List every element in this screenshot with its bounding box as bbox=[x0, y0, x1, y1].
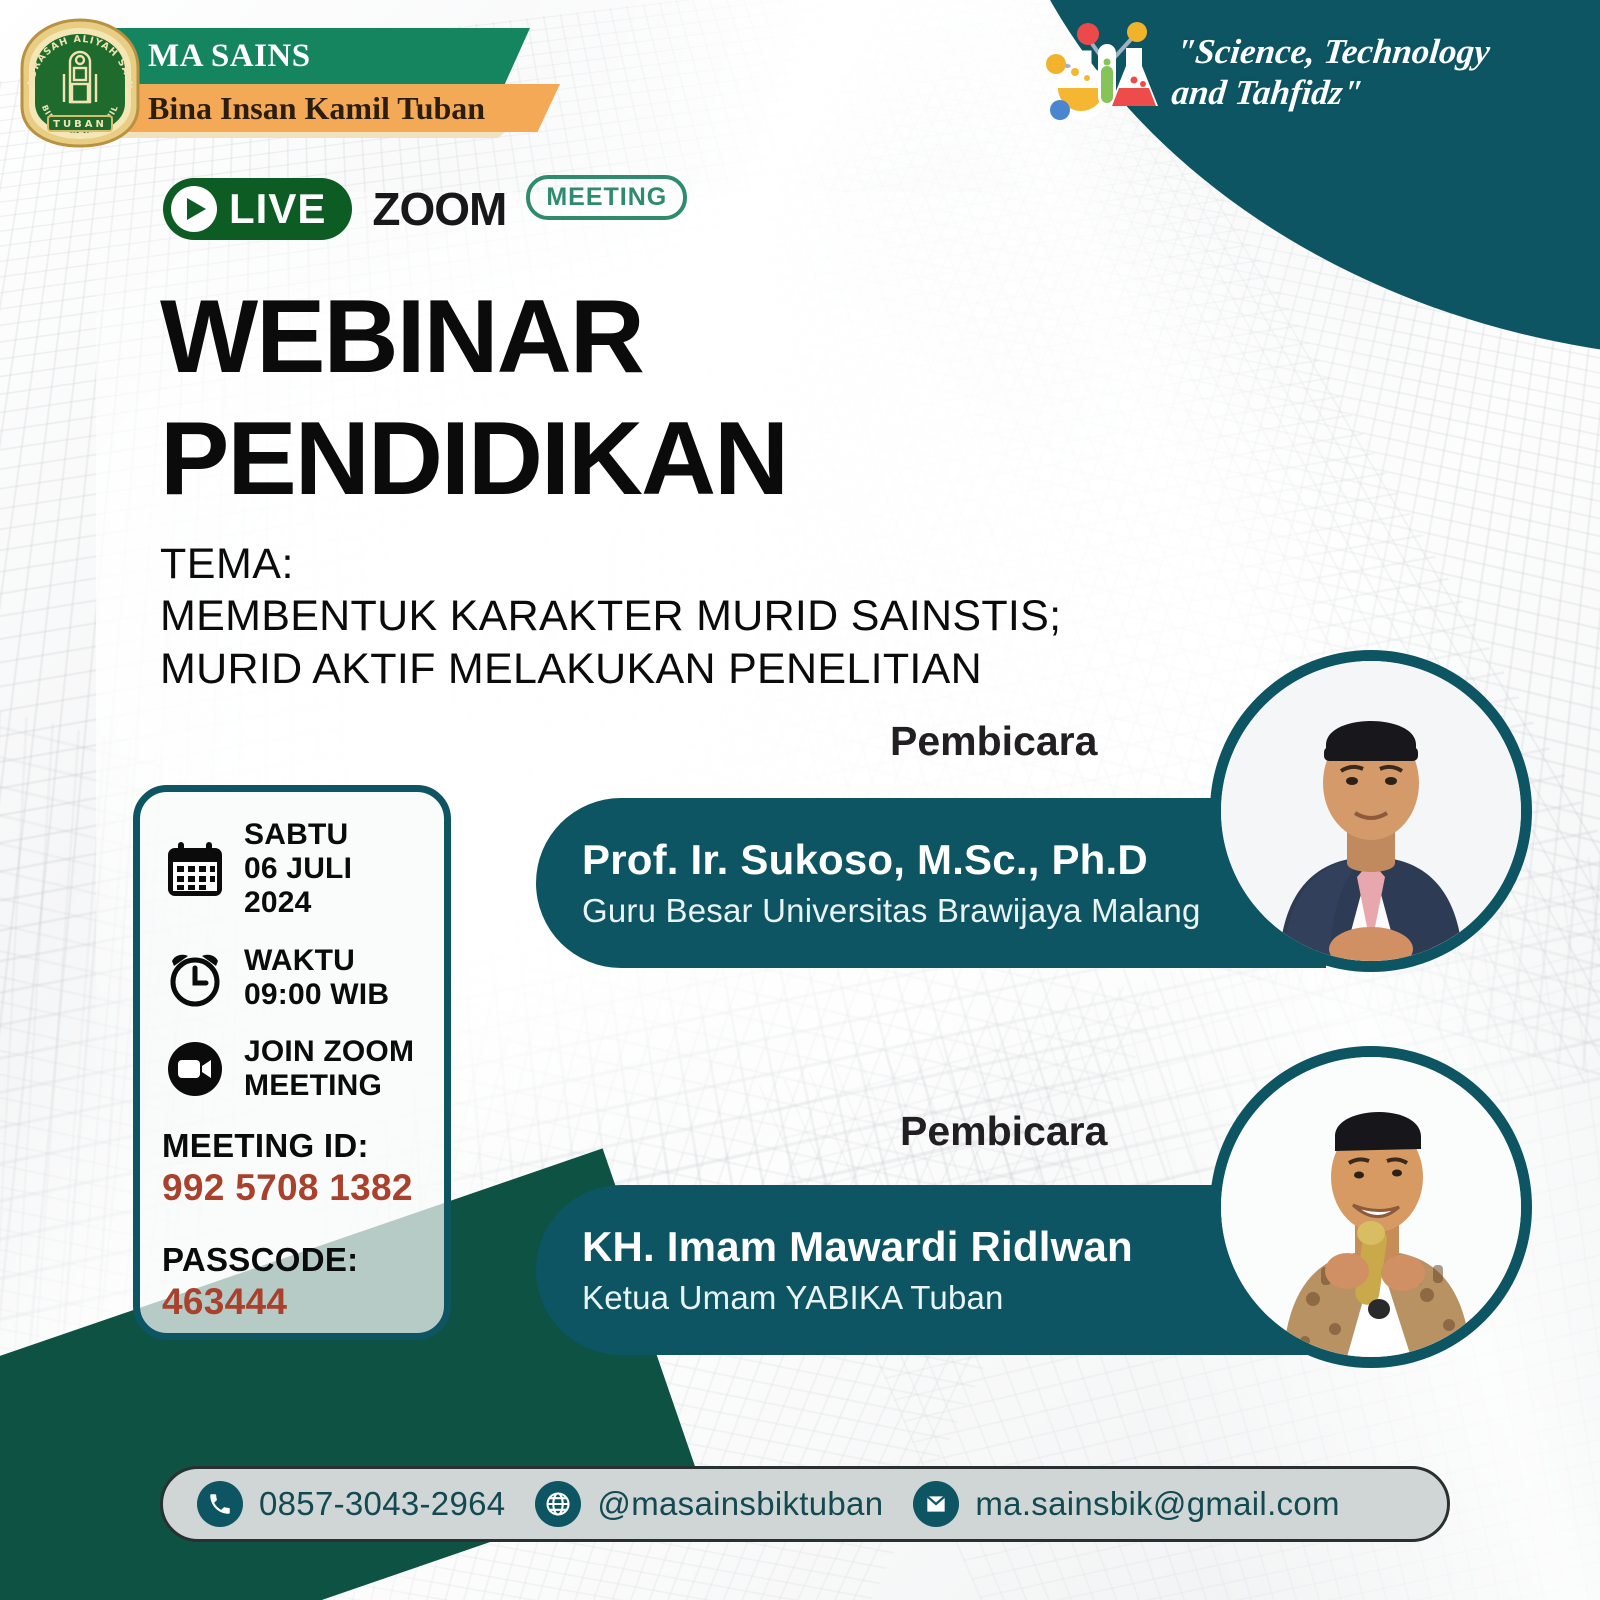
contact-email[interactable]: ma.sainsbik@gmail.com bbox=[913, 1481, 1339, 1527]
globe-icon bbox=[535, 1481, 581, 1527]
live-badge[interactable]: LIVE bbox=[163, 178, 352, 240]
info-join-line-1: JOIN ZOOM bbox=[244, 1035, 414, 1068]
tagline-line-1: "Science, Technology bbox=[1174, 32, 1492, 71]
page-title-line-1: WEBINAR bbox=[160, 278, 643, 397]
speaker-1-photo bbox=[1210, 650, 1532, 972]
passcode-block: PASSCODE: 463444 bbox=[162, 1241, 424, 1323]
info-time-line-1: WAKTU bbox=[244, 944, 355, 977]
contact-email-text: ma.sainsbik@gmail.com bbox=[975, 1485, 1339, 1523]
meeting-id-value: 992 5708 1382 bbox=[162, 1167, 424, 1209]
science-flasks-icon bbox=[1042, 14, 1162, 131]
tagline-text: "Science, Technology and Tahfidz" bbox=[1170, 31, 1492, 114]
tagline-line-2: and Tahfidz" bbox=[1170, 73, 1488, 114]
school-short-name: MA SAINS bbox=[148, 38, 311, 75]
info-time-line-2: 09:00 WIB bbox=[244, 978, 389, 1011]
speaker-1-role: Guru Besar Universitas Brawijaya Malang bbox=[582, 892, 1326, 930]
contact-website-text: @masainsbiktuban bbox=[597, 1485, 883, 1523]
webinar-poster: "Science, Technology and Tahfidz" MA SAI… bbox=[0, 0, 1600, 1600]
calendar-icon bbox=[162, 840, 228, 898]
contact-phone-text: 0857-3043-2964 bbox=[259, 1485, 505, 1523]
speaker-1-bar: Prof. Ir. Sukoso, M.Sc., Ph.D Guru Besar… bbox=[536, 798, 1326, 968]
header-band-green: MA SAINS bbox=[110, 28, 530, 84]
header-band-orange: Bina Insan Kamil Tuban bbox=[110, 84, 560, 132]
speaker-2-photo bbox=[1210, 1046, 1532, 1368]
passcode-label: PASSCODE: bbox=[162, 1241, 424, 1279]
info-date-text: SABTU 06 JULI 2024 bbox=[244, 818, 424, 920]
speaker-1-badge: Pembicara bbox=[890, 718, 1097, 765]
school-full-name: Bina Insan Kamil Tuban bbox=[148, 90, 485, 127]
info-row-join[interactable]: JOIN ZOOM MEETING bbox=[162, 1035, 424, 1103]
info-join-text: JOIN ZOOM MEETING bbox=[244, 1035, 414, 1103]
svg-text:TUBAN: TUBAN bbox=[53, 119, 107, 130]
live-label: LIVE bbox=[229, 185, 326, 233]
event-info-card: SABTU 06 JULI 2024 WAKTU 09:00 WIB bbox=[133, 785, 451, 1340]
info-date-line-1: SABTU bbox=[244, 818, 348, 851]
speaker-2-role: Ketua Umam YABIKA Tuban bbox=[582, 1279, 1326, 1317]
school-logo: MADRASAH ALIYAH SAINS BINA INSAN KAMIL T… bbox=[14, 16, 146, 150]
contact-website[interactable]: @masainsbiktuban bbox=[535, 1481, 883, 1527]
page-title-line-2: PENDIDIKAN bbox=[160, 400, 787, 519]
theme-label: TEMA: bbox=[160, 540, 294, 589]
info-row-date: SABTU 06 JULI 2024 bbox=[162, 818, 424, 920]
info-row-time: WAKTU 09:00 WIB bbox=[162, 944, 424, 1012]
email-icon bbox=[913, 1481, 959, 1527]
live-zoom-row: LIVE ZOOM MEETING bbox=[163, 178, 687, 240]
theme-line-2: MURID AKTIF MELAKUKAN PENELITIAN bbox=[160, 645, 982, 694]
zoom-label: ZOOM bbox=[372, 182, 506, 236]
play-icon bbox=[171, 186, 217, 232]
meeting-badge: MEETING bbox=[526, 175, 687, 220]
info-time-text: WAKTU 09:00 WIB bbox=[244, 944, 389, 1012]
alarm-clock-icon bbox=[162, 949, 228, 1007]
meeting-id-block: MEETING ID: 992 5708 1382 bbox=[162, 1127, 424, 1209]
speaker-2-bar: KH. Imam Mawardi Ridlwan Ketua Umam YABI… bbox=[536, 1185, 1326, 1355]
info-join-line-2: MEETING bbox=[244, 1069, 382, 1102]
contact-phone[interactable]: 0857-3043-2964 bbox=[197, 1481, 505, 1527]
meeting-id-label: MEETING ID: bbox=[162, 1127, 424, 1165]
speaker-2-badge: Pembicara bbox=[900, 1108, 1107, 1155]
contact-bar: 0857-3043-2964 @masainsbiktuban ma.sains… bbox=[160, 1466, 1450, 1542]
theme-line-1: MEMBENTUK KARAKTER MURID SAINSTIS; bbox=[160, 592, 1061, 641]
passcode-value: 463444 bbox=[162, 1281, 424, 1323]
video-camera-icon bbox=[162, 1040, 228, 1098]
school-tagline: "Science, Technology and Tahfidz" bbox=[1042, 14, 1562, 131]
info-date-line-2: 06 JULI 2024 bbox=[244, 852, 352, 919]
phone-icon bbox=[197, 1481, 243, 1527]
